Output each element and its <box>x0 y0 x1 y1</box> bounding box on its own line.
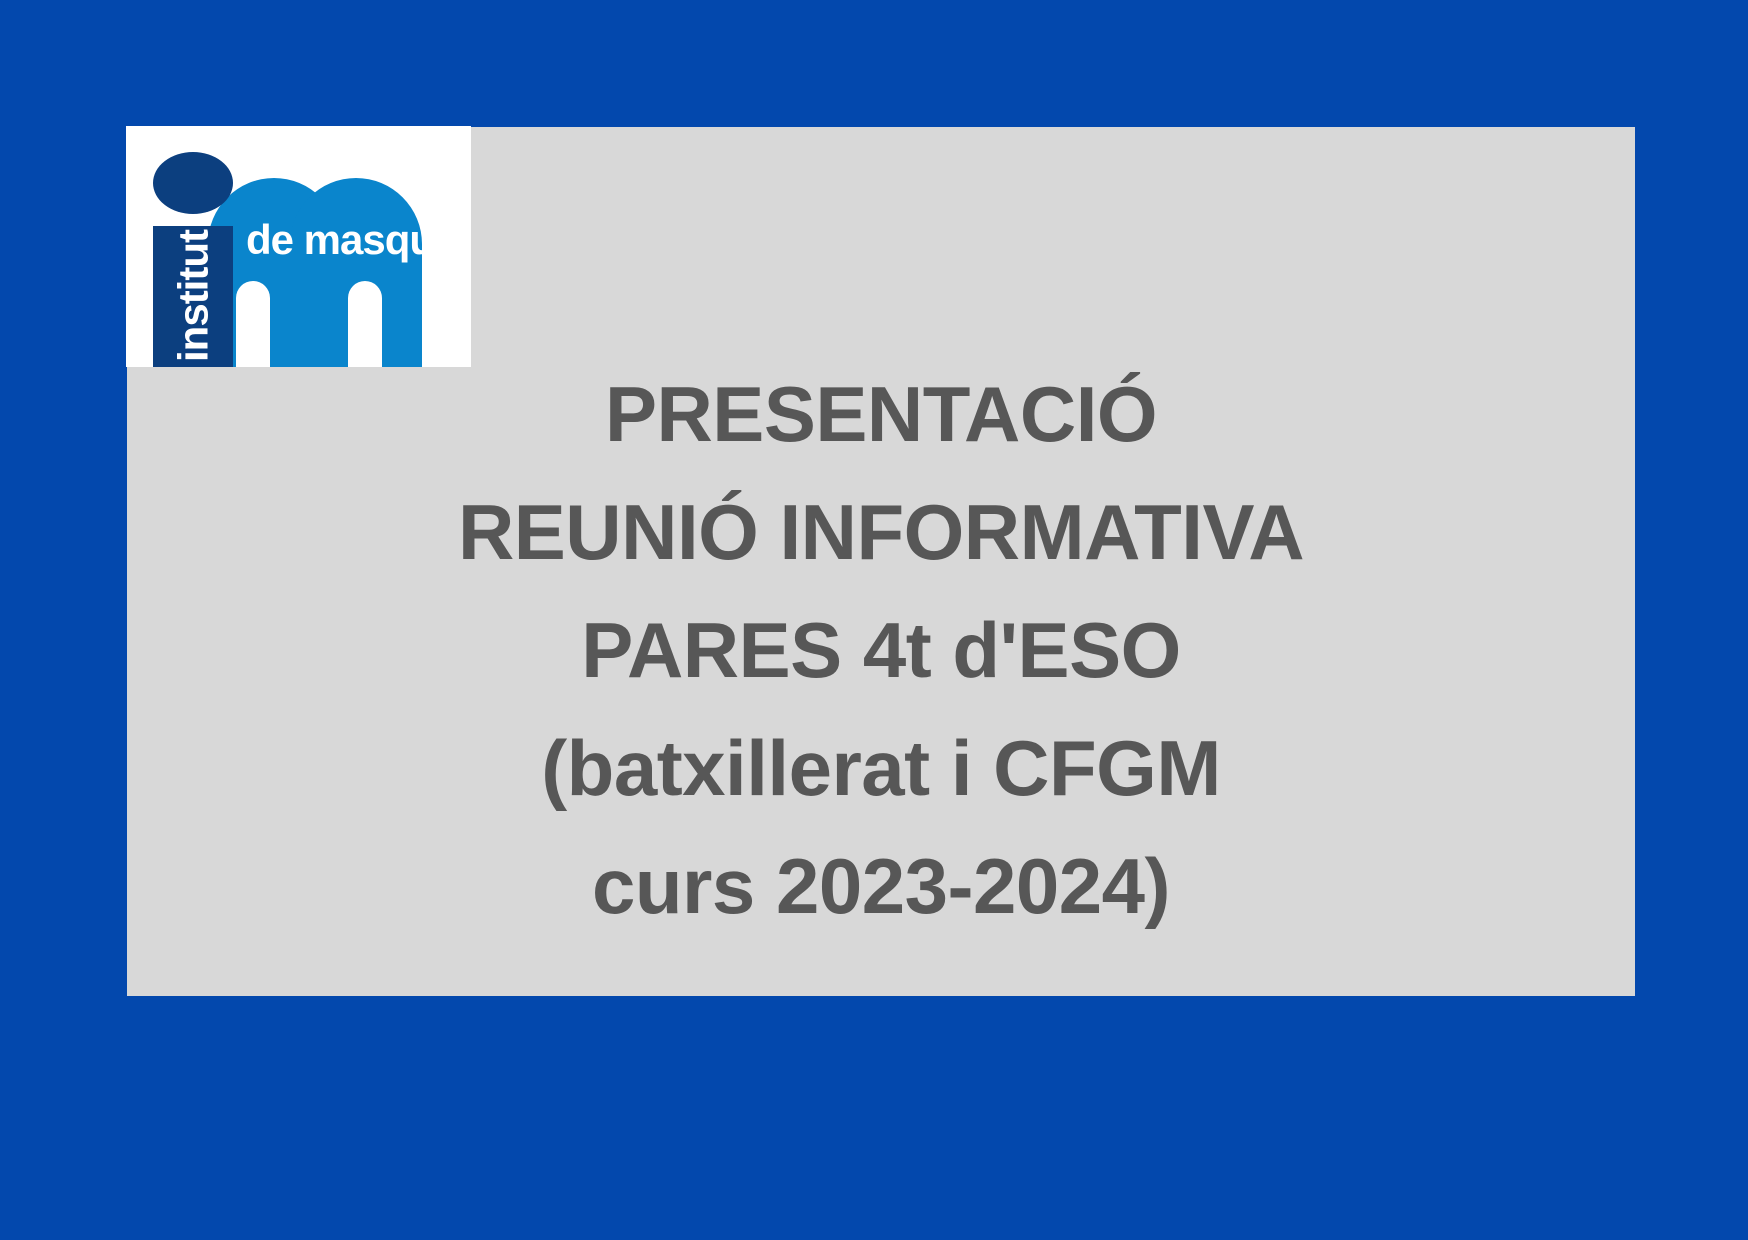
logo-i-dot <box>153 152 233 214</box>
logo-vertical-word: institut <box>170 229 217 362</box>
logo-graphic: institut de masquefa <box>126 126 471 367</box>
slide-canvas: PRESENTACIÓ REUNIÓ INFORMATIVA PARES 4t … <box>0 0 1748 1240</box>
title-line-5: curs 2023-2024) <box>127 827 1635 945</box>
title-line-3: PARES 4t d'ESO <box>127 591 1635 709</box>
logo-inline-word: de masquefa <box>246 216 471 263</box>
title-line-2: REUNIÓ INFORMATIVA <box>127 473 1635 591</box>
title-line-1: PRESENTACIÓ <box>127 355 1635 473</box>
logo-m-arch <box>208 178 422 367</box>
institut-de-masquefa-logo: institut de masquefa <box>126 126 471 367</box>
page-title: PRESENTACIÓ REUNIÓ INFORMATIVA PARES 4t … <box>127 355 1635 945</box>
title-line-4: (batxillerat i CFGM <box>127 709 1635 827</box>
